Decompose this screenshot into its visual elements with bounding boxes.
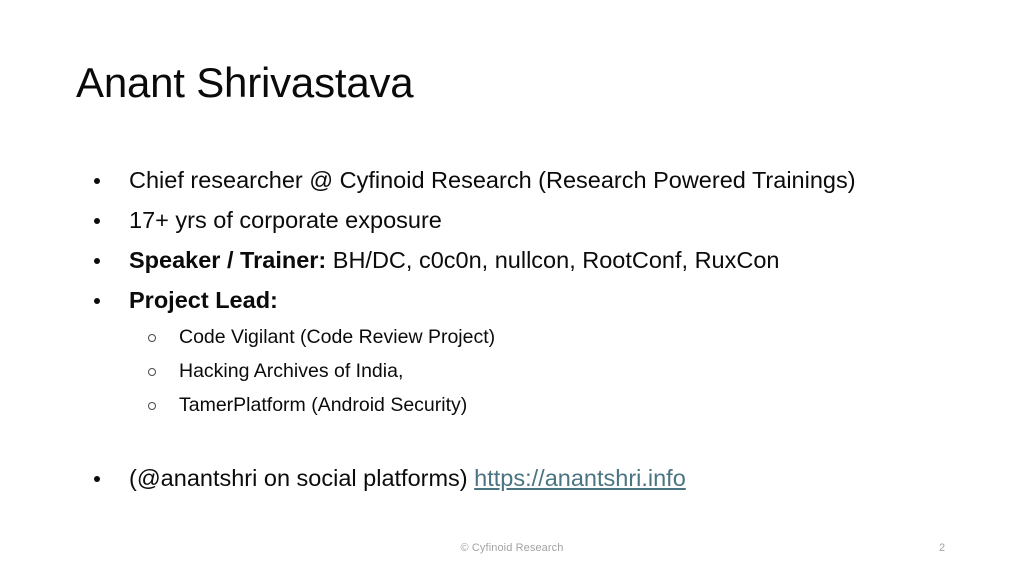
page-title: Anant Shrivastava [76, 57, 413, 109]
list-item-label: Hacking Archives of India, [179, 354, 958, 388]
list-spacer [78, 422, 958, 458]
list-item-label-prefix: (@anantshri on social platforms) [129, 465, 474, 491]
list-item: Project Lead: [78, 280, 958, 320]
list-item: TamerPlatform (Android Security) [78, 388, 958, 422]
website-link[interactable]: https://anantshri.info [474, 465, 686, 491]
bullet-circle-icon [148, 334, 156, 342]
list-item: Chief researcher @ Cyfinoid Research (Re… [78, 160, 958, 200]
list-item-label-bold: Speaker / Trainer: [129, 247, 326, 273]
list-item-label: (@anantshri on social platforms) https:/… [129, 458, 958, 498]
list-item: Hacking Archives of India, [78, 354, 958, 388]
list-item-label: Speaker / Trainer: BH/DC, c0c0n, nullcon… [129, 240, 958, 280]
bullet-dot-icon [94, 218, 100, 224]
list-item: (@anantshri on social platforms) https:/… [78, 458, 958, 498]
list-item-label: 17+ yrs of corporate exposure [129, 200, 958, 240]
list-item-label-rest: BH/DC, c0c0n, nullcon, RootConf, RuxCon [326, 247, 779, 273]
footer-copyright: © Cyfinoid Research [0, 540, 1024, 556]
list-item: Code Vigilant (Code Review Project) [78, 320, 958, 354]
bullet-dot-icon [94, 258, 100, 264]
slide: Anant Shrivastava Chief researcher @ Cyf… [0, 0, 1024, 576]
bullet-dot-icon [94, 476, 100, 482]
bullet-circle-icon [148, 368, 156, 376]
list-item: Speaker / Trainer: BH/DC, c0c0n, nullcon… [78, 240, 958, 280]
bullet-dot-icon [94, 298, 100, 304]
list-item-label: Code Vigilant (Code Review Project) [179, 320, 958, 354]
list-item-label: Project Lead: [129, 280, 958, 320]
page-number: 2 [930, 540, 954, 556]
bullet-list: Chief researcher @ Cyfinoid Research (Re… [78, 160, 958, 498]
list-item: 17+ yrs of corporate exposure [78, 200, 958, 240]
list-item-label: TamerPlatform (Android Security) [179, 388, 958, 422]
bullet-circle-icon [148, 402, 156, 410]
bullet-dot-icon [94, 178, 100, 184]
list-item-label: Chief researcher @ Cyfinoid Research (Re… [129, 160, 958, 200]
